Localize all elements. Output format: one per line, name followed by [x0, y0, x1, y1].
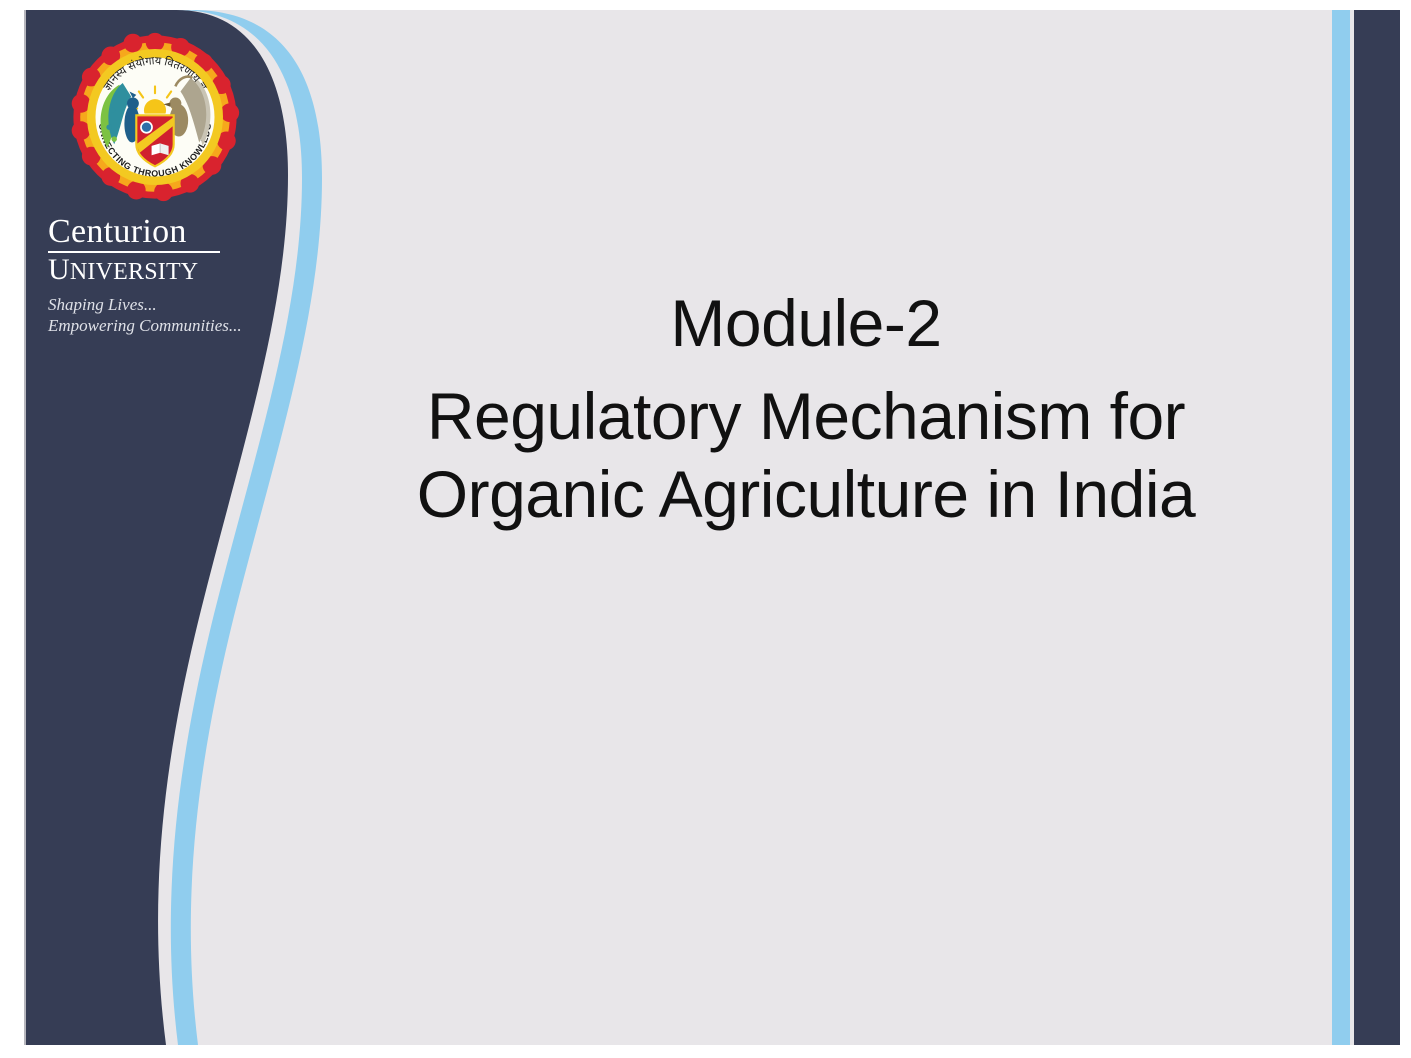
brand-tagline-line1: Shaping Lives... — [48, 294, 270, 315]
right-navy-band — [1354, 10, 1400, 1045]
right-blue-stripe — [1332, 10, 1350, 1045]
university-emblem: ज्ञानस्य संयोगाय वितरणाय च CONNECTING TH… — [70, 32, 240, 202]
brand-subtitle: UNIVERSITY — [48, 254, 270, 288]
brand-name-underline — [48, 251, 220, 253]
brand-tagline-line2: Empowering Communities... — [48, 315, 270, 336]
slide-title-block: Module-2 Regulatory Mechanism for Organi… — [316, 285, 1296, 533]
brand-lockup: ज्ञानस्य संयोगाय वितरणाय च CONNECTING TH… — [40, 32, 270, 336]
subject-title-line2: Organic Agriculture in India — [316, 455, 1296, 533]
module-title: Module-2 — [316, 285, 1296, 361]
subject-title-line1: Regulatory Mechanism for — [316, 377, 1296, 455]
brand-tagline: Shaping Lives... Empowering Communities.… — [48, 294, 270, 336]
shield-icon — [136, 115, 173, 166]
centurion-emblem-icon: ज्ञानस्य संयोगाय वितरणाय च CONNECTING TH… — [70, 32, 240, 202]
brand-subtitle-rest: NIVERSITY — [70, 259, 198, 285]
subject-title: Regulatory Mechanism for Organic Agricul… — [316, 377, 1296, 533]
brand-subtitle-initial: U — [48, 253, 70, 286]
brand-name: Centurion — [48, 214, 270, 250]
slide-canvas: ज्ञानस्य संयोगाय वितरणाय च CONNECTING TH… — [24, 10, 1400, 1045]
